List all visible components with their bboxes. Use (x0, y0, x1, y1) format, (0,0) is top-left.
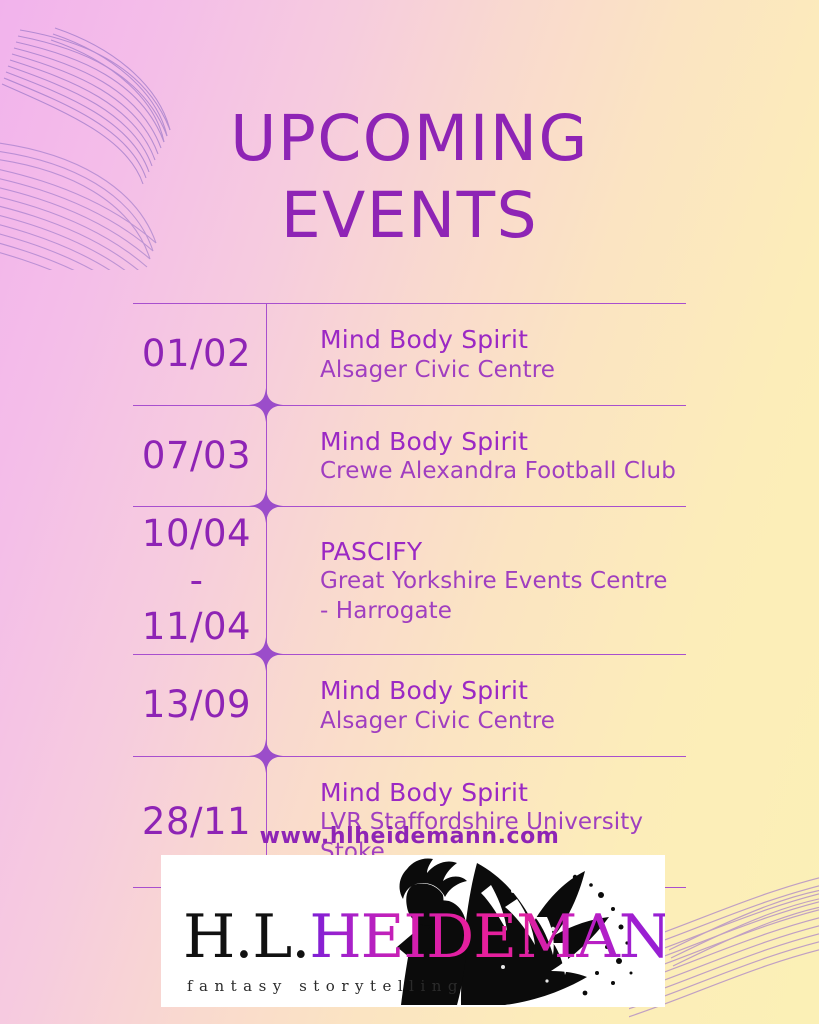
logo-tagline: fantasy storytelling (187, 977, 464, 995)
event-details: Mind Body Spirit Alsager Civic Centre (266, 655, 686, 756)
event-details: Mind Body Spirit Alsager Civic Centre (266, 304, 686, 405)
event-date: 13/09 (133, 655, 266, 756)
table-row: 07/03 Mind Body Spirit Crewe Alexandra F… (133, 405, 686, 507)
logo-wordmark: H.L.HEIDEMANN (183, 907, 665, 967)
website-url: www.hlheidemann.com (133, 824, 686, 849)
event-date: 10/04 - 11/04 (133, 507, 266, 654)
events-table: 01/02 Mind Body Spirit Alsager Civic Cen… (133, 303, 686, 888)
event-venue: Crewe Alexandra Football Club (320, 457, 676, 486)
event-date: 01/02 (133, 304, 266, 405)
event-title: Mind Body Spirit (320, 675, 676, 707)
page-title-line-2: EVENTS (0, 177, 819, 254)
event-details: PASCIFY Great Yorkshire Events Centre - … (266, 507, 686, 654)
table-row: 01/02 Mind Body Spirit Alsager Civic Cen… (133, 303, 686, 405)
event-title: Mind Body Spirit (320, 777, 676, 809)
event-title: Mind Body Spirit (320, 426, 676, 458)
event-title: Mind Body Spirit (320, 324, 676, 356)
page-title-line-1: UPCOMING (0, 100, 819, 177)
poster-canvas: UPCOMING EVENTS 01/02 Mind Body Spirit A… (0, 0, 819, 1024)
table-row: 10/04 - 11/04 PASCIFY Great Yorkshire Ev… (133, 506, 686, 654)
event-date: 07/03 (133, 406, 266, 507)
event-details: Mind Body Spirit Crewe Alexandra Footbal… (266, 406, 686, 507)
event-venue: Alsager Civic Centre (320, 707, 676, 736)
table-row: 13/09 Mind Body Spirit Alsager Civic Cen… (133, 654, 686, 756)
event-venue: Alsager Civic Centre (320, 356, 676, 385)
event-venue: Great Yorkshire Events Centre - Harrogat… (320, 567, 676, 625)
logo-surname: HEIDEMANN (309, 902, 665, 972)
event-title: PASCIFY (320, 536, 676, 568)
logo-initials: H.L. (183, 902, 309, 972)
page-title: UPCOMING EVENTS (0, 100, 819, 255)
brand-logo: H.L.HEIDEMANN fantasy storytelling (161, 855, 665, 1007)
